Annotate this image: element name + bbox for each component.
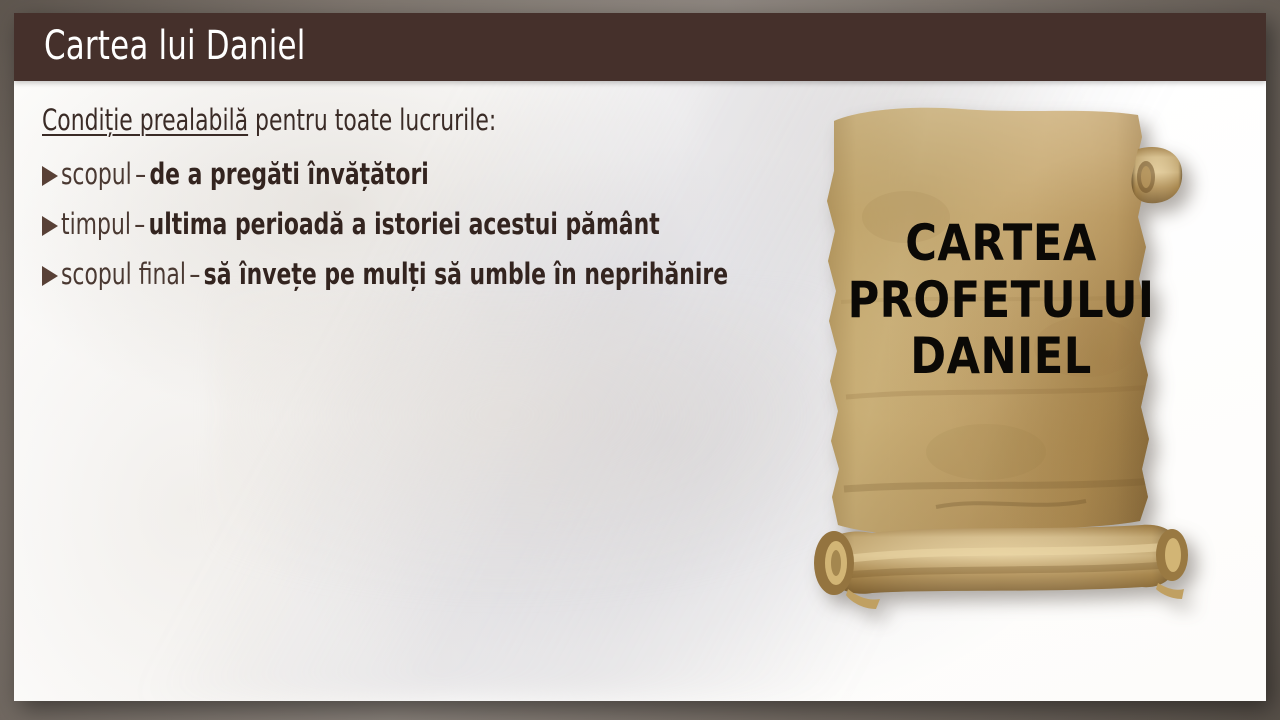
bullet-label: timpul: [61, 207, 131, 241]
slide-root: Cartea lui Daniel Condiție prealabilă pe…: [0, 0, 1280, 720]
bullet-dash: –: [131, 207, 149, 241]
bullet-label: scopul: [61, 157, 132, 191]
slide-body: Condiție prealabilă pentru toate lucruri…: [42, 101, 802, 304]
lead-line-inner: Condiție prealabilă pentru toate lucruri…: [42, 101, 496, 140]
bullet-item-timpul: timpul–ultima perioadă a istoriei acestu…: [42, 205, 802, 244]
bullet-item-scopul: scopul–de a pregăti învățători: [42, 155, 802, 194]
bullet-detail: de a pregăti învățători: [149, 157, 428, 191]
lead-underlined-phrase: Condiție prealabilă: [42, 103, 248, 137]
bullet-text-timpul: timpul–ultima perioadă a istoriei acestu…: [61, 205, 660, 244]
bullet-text-scopul: scopul–de a pregăti învățători: [61, 155, 429, 194]
triangle-bullet-icon: [42, 166, 58, 186]
bullet-item-scopul-final: scopul final–să învețe pe mulți să umble…: [42, 255, 802, 294]
triangle-bullet-icon: [42, 266, 58, 286]
scroll-bottom-roll: [814, 525, 1188, 609]
bullet-text-scopul-final: scopul final–să învețe pe mulți să umble…: [61, 255, 728, 294]
parchment-scroll-image: CARTEA PROFETULUI DANIEL: [786, 97, 1216, 642]
triangle-bullet-icon: [42, 216, 58, 236]
bullet-detail: ultima perioadă a istoriei acestui pămân…: [149, 207, 660, 241]
scroll-curl-right: [1132, 147, 1183, 203]
bullet-dash: –: [132, 157, 150, 191]
bullet-detail: să învețe pe mulți să umble în neprihăni…: [204, 257, 728, 291]
page-title: Cartea lui Daniel: [44, 23, 348, 69]
slide-title-bar: Cartea lui Daniel: [14, 13, 1266, 81]
bullet-dash: –: [186, 257, 204, 291]
lead-rest-text: pentru toate lucrurile:: [248, 103, 496, 137]
lead-line: Condiție prealabilă pentru toate lucruri…: [42, 101, 802, 140]
slide-card: Cartea lui Daniel Condiție prealabilă pe…: [14, 13, 1266, 701]
page-title-text: Cartea lui Daniel: [44, 23, 306, 69]
bullet-label: scopul final: [61, 257, 186, 291]
